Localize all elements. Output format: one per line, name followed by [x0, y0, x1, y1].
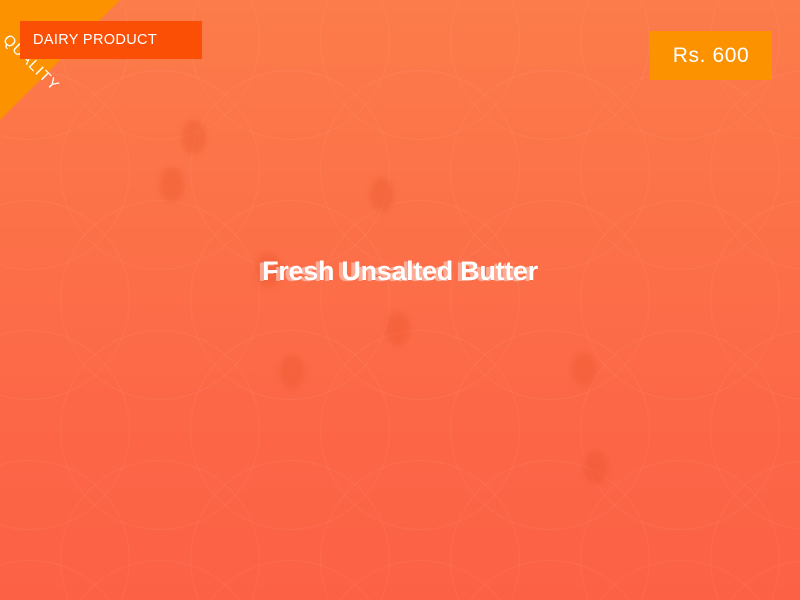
- pattern-ring: [0, 200, 130, 400]
- category-badge[interactable]: DAIRY PRODUCT: [20, 21, 202, 59]
- product-title-ghost: Fresh Unsalted Butter: [258, 257, 534, 288]
- pattern-ring: [450, 200, 650, 400]
- pattern-ring: [320, 0, 520, 140]
- pattern-ring: [0, 330, 130, 530]
- pattern-ring: [60, 330, 260, 530]
- pattern-ring: [580, 560, 780, 600]
- pattern-blob: [386, 312, 410, 346]
- pattern-ring: [0, 460, 130, 600]
- pattern-ring: [190, 330, 390, 530]
- category-badge-label: DAIRY PRODUCT: [33, 32, 157, 48]
- pattern-ring: [710, 200, 800, 400]
- pattern-ring: [580, 200, 780, 400]
- pattern-ring: [710, 560, 800, 600]
- pattern-blob: [182, 120, 206, 154]
- pattern-ring: [710, 330, 800, 530]
- pattern-blob: [160, 168, 184, 202]
- product-card: QUALITY DAIRY PRODUCT Rs. 600 Fresh Unsa…: [0, 0, 800, 600]
- pattern-ring: [320, 330, 520, 530]
- pattern-ring: [450, 0, 650, 140]
- pattern-ring: [320, 460, 520, 600]
- pattern-blob: [370, 178, 394, 212]
- price-badge-label: Rs. 600: [673, 44, 750, 68]
- pattern-ring: [190, 0, 390, 140]
- pattern-ring: [320, 200, 520, 400]
- pattern-ring: [190, 200, 390, 400]
- pattern-ring: [450, 70, 650, 270]
- pattern-ring: [320, 70, 520, 270]
- pattern-ring: [450, 460, 650, 600]
- pattern-ring: [710, 70, 800, 270]
- pattern-ring: [320, 560, 520, 600]
- pattern-ring: [60, 560, 260, 600]
- pattern-ring: [190, 560, 390, 600]
- pattern-ring: [0, 560, 130, 600]
- pattern-ring: [450, 330, 650, 530]
- product-title-container: Fresh Unsalted Butter Fresh Unsalted But…: [0, 249, 800, 293]
- pattern-ring: [580, 460, 780, 600]
- pattern-ring: [190, 70, 390, 270]
- pattern-ring: [60, 460, 260, 600]
- pattern-ring: [190, 460, 390, 600]
- price-badge[interactable]: Rs. 600: [650, 31, 772, 80]
- pattern-ring: [710, 460, 800, 600]
- pattern-blob: [572, 352, 596, 386]
- background-pattern: [0, 0, 800, 600]
- pattern-ring: [450, 560, 650, 600]
- pattern-ring: [60, 200, 260, 400]
- product-title: Fresh Unsalted Butter Fresh Unsalted But…: [262, 256, 538, 287]
- pattern-ring: [580, 70, 780, 270]
- pattern-blob: [584, 450, 608, 484]
- pattern-ring: [580, 330, 780, 530]
- pattern-blob: [280, 355, 304, 389]
